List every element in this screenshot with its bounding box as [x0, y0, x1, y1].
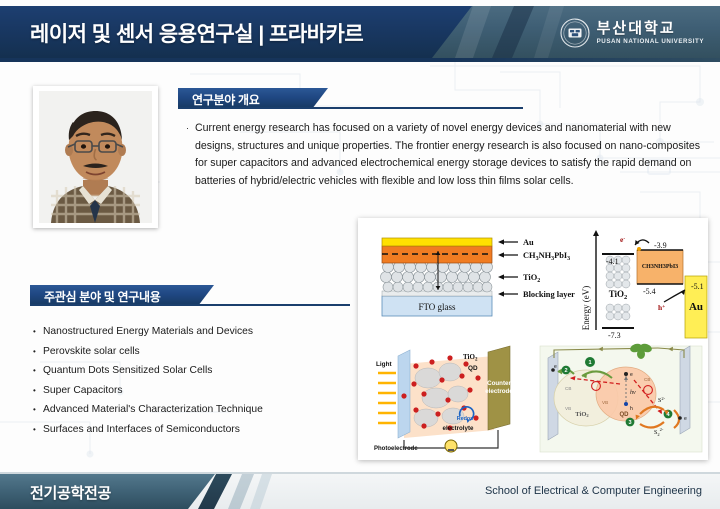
list-item: Perovskite solar cells — [33, 342, 343, 362]
section-tab-overview: 연구분야 개요 — [178, 88, 523, 109]
mechanism-diagram: TiO2 CB VB QD CB VB hv e h — [540, 342, 702, 452]
svg-text:VB: VB — [565, 406, 571, 411]
header-underline — [0, 58, 720, 62]
university-logo: 부산대학교 PUSAN NATIONAL UNIVERSITY — [560, 14, 704, 52]
svg-text:3: 3 — [628, 420, 631, 426]
svg-text:VB: VB — [602, 400, 608, 405]
svg-text:FTO glass: FTO glass — [418, 302, 456, 312]
footer-department-kr: 전기공학전공 — [30, 482, 111, 503]
svg-text:-7.3: -7.3 — [608, 331, 621, 340]
overview-tab-rule — [178, 107, 523, 109]
svg-text:h: h — [630, 406, 633, 412]
svg-text:Photoelectrode: Photoelectrode — [374, 446, 418, 452]
overview-paragraph: · Current energy research has focused on… — [186, 120, 708, 190]
svg-text:Energy (eV): Energy (eV) — [581, 286, 591, 331]
interests-tab-rule — [30, 304, 350, 306]
svg-text:Blocking layer: Blocking layer — [523, 290, 575, 299]
university-text: 부산대학교 PUSAN NATIONAL UNIVERSITY — [597, 21, 704, 45]
svg-text:CH3NH3PbI3: CH3NH3PbI3 — [642, 264, 678, 270]
slide-footer: 전기공학전공 School of Electrical & Computer E… — [0, 474, 720, 509]
svg-text:-3.9: -3.9 — [654, 241, 667, 250]
svg-text:2: 2 — [564, 368, 567, 374]
svg-text:electrolyte: electrolyte — [443, 425, 475, 432]
svg-text:hv: hv — [630, 390, 636, 396]
section-tab-interests: 주관심 분야 및 연구내용 — [30, 285, 350, 306]
professor-portrait — [33, 86, 158, 228]
university-seal-icon — [560, 18, 590, 48]
university-name-kr: 부산대학교 — [597, 21, 704, 36]
svg-text:e: e — [684, 416, 687, 422]
research-interest-list: Nanostructured Energy Materials and Devi… — [33, 322, 343, 439]
overview-tab-label: 연구분야 개요 — [192, 91, 259, 108]
footer-department-en: School of Electrical & Computer Engineer… — [485, 485, 702, 497]
svg-text:-5.1: -5.1 — [691, 282, 704, 291]
slide-root: 레이저 및 센서 응용연구실 | 프라바카르 — [0, 0, 720, 509]
svg-text:Counter: Counter — [487, 380, 511, 387]
svg-text:CB: CB — [644, 377, 650, 382]
svg-text:electrode: electrode — [485, 388, 513, 395]
page-title: 레이저 및 센서 응용연구실 | 프라바카르 — [30, 18, 363, 48]
overview-text: Current energy research has focused on a… — [186, 120, 708, 190]
svg-text:Au: Au — [523, 238, 534, 247]
svg-text:Au: Au — [689, 301, 703, 313]
svg-text:e: e — [630, 372, 633, 378]
overview-bullet: · — [186, 120, 189, 138]
list-item: Nanostructured Energy Materials and Devi… — [33, 322, 343, 342]
list-item: Surfaces and Interfaces of Semiconductor… — [33, 420, 343, 440]
svg-text:Light: Light — [376, 361, 392, 368]
svg-text:-4.1: -4.1 — [606, 257, 619, 266]
svg-text:-5.4: -5.4 — [643, 287, 656, 296]
qdssc-schematic: Counter electrode — [374, 346, 534, 452]
svg-text:Redox: Redox — [457, 416, 473, 422]
svg-text:QD: QD — [620, 412, 630, 418]
svg-text:CB: CB — [565, 386, 571, 391]
svg-text:QD: QD — [468, 365, 478, 372]
list-item: Quantum Dots Sensitized Solar Cells — [33, 361, 343, 381]
interests-tab-label: 주관심 분야 및 연구내용 — [44, 288, 161, 305]
list-item: Advanced Material's Characterization Tec… — [33, 400, 343, 420]
slide-header: 레이저 및 센서 응용연구실 | 프라바카르 — [0, 6, 720, 58]
university-name-en: PUSAN NATIONAL UNIVERSITY — [597, 39, 704, 45]
svg-text:1: 1 — [588, 360, 591, 366]
research-figure-panel: FTO glass — [358, 218, 708, 460]
svg-text:e: e — [554, 364, 557, 370]
list-item: Super Capacitors — [33, 381, 343, 401]
